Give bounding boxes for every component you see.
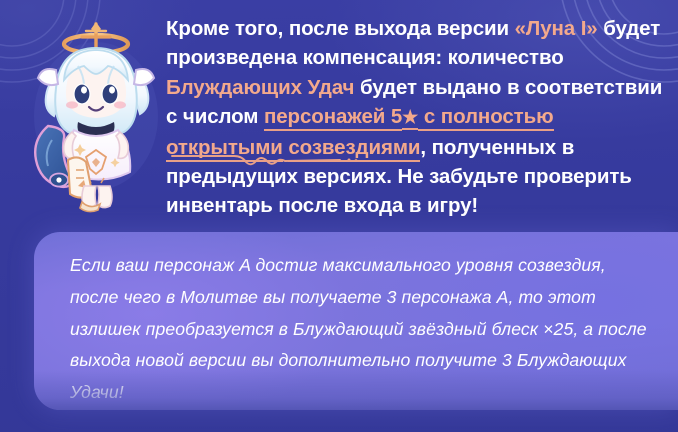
star-rating-icon: ★ [402,107,418,130]
headline-highlight-wandering-luck: Блуждающих Удач [166,76,354,99]
quote-example-text: Если ваш персонаж A достиг максимального… [70,250,650,409]
headline-underline-characters: персонажей 5 [264,105,402,131]
announcement-banner: Кроме того, после выхода версии «Луна I»… [0,0,678,432]
quote-example-panel: Если ваш персонаж A достиг максимального… [34,232,678,410]
headline-highlight-version: «Луна I» [515,17,598,40]
announcement-headline: Кроме того, после выхода версии «Луна I»… [166,14,666,221]
headline-segment-0: Кроме того, после выхода версии [166,17,515,40]
headline-underline-constellations: созвездиями [288,136,420,162]
paimon-character-illustration [18,8,174,213]
